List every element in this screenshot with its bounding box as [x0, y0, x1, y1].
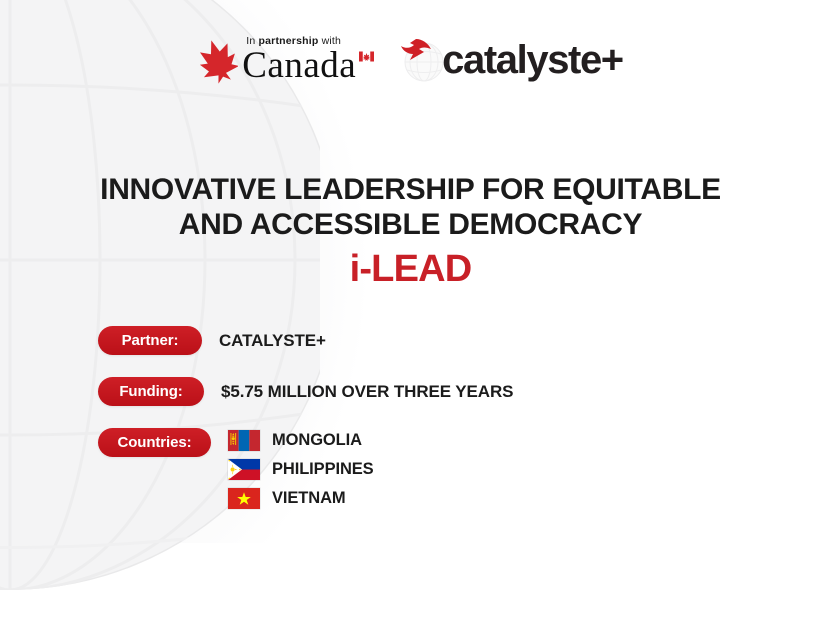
maple-leaf-icon [198, 38, 238, 84]
partner-value: CATALYSTE+ [219, 326, 326, 355]
program-details: Partner: CATALYSTE+ Funding: $5.75 MILLI… [98, 326, 738, 510]
partner-row: Partner: CATALYSTE+ [98, 326, 738, 355]
philippines-flag-icon [228, 459, 260, 480]
country-name: VIETNAM [272, 489, 346, 508]
catalyste-logo: catalyste+ [400, 36, 623, 84]
canada-wordmark-logo: In partnership with Canada [198, 36, 374, 84]
funding-label-badge: Funding: [98, 377, 204, 406]
countries-row: Countries: [98, 428, 738, 510]
country-name: PHILIPPINES [272, 460, 374, 479]
page-title: INNOVATIVE LEADERSHIP FOR EQUITABLE AND … [0, 172, 821, 292]
countries-label-badge: Countries: [98, 428, 211, 457]
country-name: MONGOLIA [272, 431, 362, 450]
program-acronym: i-LEAD [0, 248, 821, 292]
country-list: MONGOLIA [228, 428, 374, 510]
canada-flag-icon [359, 51, 374, 62]
list-item: PHILIPPINES [228, 457, 374, 481]
funding-value: $5.75 MILLION OVER THREE YEARS [221, 377, 513, 406]
canada-wordmark-text: Canada [242, 48, 356, 84]
logo-row: In partnership with Canada [0, 36, 821, 84]
headline-line-2: AND ACCESSIBLE DEMOCRACY [0, 207, 821, 242]
list-item: MONGOLIA [228, 428, 374, 452]
partner-label-badge: Partner: [98, 326, 202, 355]
globe-with-red-arrow-icon [400, 36, 446, 84]
vietnam-flag-icon [228, 488, 260, 509]
headline-line-1: INNOVATIVE LEADERSHIP FOR EQUITABLE [0, 172, 821, 207]
funding-row: Funding: $5.75 MILLION OVER THREE YEARS [98, 377, 738, 406]
catalyste-wordmark-text: catalyste+ [442, 40, 623, 80]
list-item: VIETNAM [228, 486, 374, 510]
mongolia-flag-icon [228, 430, 260, 451]
